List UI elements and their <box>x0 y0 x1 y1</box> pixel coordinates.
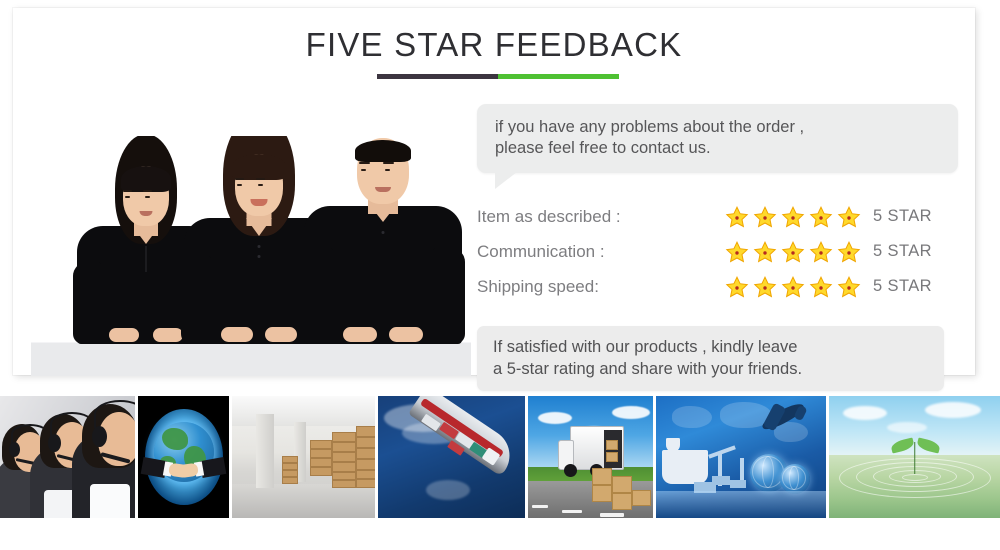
hair-top <box>232 154 286 180</box>
headset-icon <box>94 400 135 428</box>
carton-box <box>282 456 298 470</box>
shirt-button-bottom <box>258 255 261 258</box>
page-root: FIVE STAR FEEDBACK <box>0 0 1000 550</box>
eye-right <box>258 184 263 187</box>
warehouse-column <box>256 414 274 488</box>
cloud <box>612 406 650 419</box>
shirt-button-top <box>382 231 385 234</box>
agent-shirt <box>90 484 130 518</box>
world-map-overlay <box>672 406 712 428</box>
underline-green-segment <box>498 74 619 79</box>
rating-value: 5 STAR <box>873 277 932 296</box>
carton-box <box>310 458 332 476</box>
star-icon <box>809 205 833 229</box>
hand-right <box>389 327 423 342</box>
carton-box <box>356 426 375 448</box>
service-thumbnail-strip <box>0 396 1000 518</box>
thumbnail-green-sprout[interactable] <box>829 396 1000 518</box>
arm-left <box>181 256 213 344</box>
team-photo <box>31 136 471 376</box>
eye-left <box>237 184 242 187</box>
globe-icon <box>780 464 810 494</box>
carton-in-trailer <box>606 440 618 450</box>
cargo-ship <box>662 450 708 484</box>
star-icon <box>837 275 861 299</box>
star-icon <box>753 240 777 264</box>
eye-right <box>385 169 390 172</box>
star-icon <box>809 240 833 264</box>
title-block: FIVE STAR FEEDBACK <box>13 26 975 64</box>
collar-v <box>246 218 272 236</box>
note-line-2: a 5-star rating and share with your frie… <box>493 358 928 380</box>
brow-right <box>256 178 265 180</box>
hair-top <box>121 166 171 192</box>
truck-wheel <box>564 464 577 477</box>
carton-box <box>592 468 612 485</box>
rating-row: Communication : 5 STAR <box>477 234 961 269</box>
brow-left <box>359 162 370 164</box>
arm-right <box>431 248 465 344</box>
carton-box <box>356 448 375 470</box>
star-rating <box>725 205 873 229</box>
placket <box>145 246 147 272</box>
headset-earpiece <box>48 434 61 452</box>
page-title: FIVE STAR FEEDBACK <box>13 26 975 64</box>
star-icon <box>837 240 861 264</box>
carton-box <box>612 493 632 510</box>
cloud <box>925 402 981 418</box>
collar-v <box>134 228 158 244</box>
globe-landmass <box>162 428 188 450</box>
title-underline <box>377 74 619 79</box>
star-rating <box>725 275 873 299</box>
arm-left <box>301 248 335 344</box>
star-rating <box>725 240 873 264</box>
star-icon <box>781 275 805 299</box>
carton-box <box>632 490 651 506</box>
support-message-bubble: if you have any problems about the order… <box>477 104 958 173</box>
underline-dark-segment <box>377 74 498 79</box>
carton-box <box>612 476 632 493</box>
rating-label: Shipping speed: <box>477 277 725 297</box>
rating-label: Communication : <box>477 242 725 262</box>
cloud <box>538 412 572 424</box>
sprout-stem <box>914 442 916 474</box>
thumbnail-delivery-truck[interactable] <box>528 396 653 518</box>
star-icon <box>781 240 805 264</box>
eye-left <box>125 196 130 199</box>
hair-top <box>355 140 411 162</box>
star-icon <box>725 240 749 264</box>
carton-box <box>310 440 332 458</box>
carton-box <box>332 432 356 452</box>
lane-marking <box>532 505 548 508</box>
container <box>730 480 746 488</box>
brow-right <box>143 190 152 192</box>
carton-box <box>332 452 356 472</box>
carton-box <box>356 470 375 488</box>
support-message-line-1: if you have any problems about the order… <box>495 117 942 138</box>
star-icon <box>781 205 805 229</box>
support-message-line-2: please feel free to contact us. <box>495 138 942 159</box>
hand-left <box>221 327 253 342</box>
thumbnail-call-center-agents[interactable] <box>0 396 135 518</box>
carton-box <box>282 470 298 484</box>
cloud <box>887 422 927 433</box>
arm-left <box>73 262 103 344</box>
hand-right <box>265 327 297 342</box>
collar-v <box>369 204 397 222</box>
star-icon <box>725 205 749 229</box>
eye-right <box>145 196 150 199</box>
cloud <box>843 406 887 420</box>
star-icon <box>725 275 749 299</box>
thumbnail-container-ship[interactable] <box>378 396 524 518</box>
carton-box <box>332 472 356 488</box>
feedback-card: FIVE STAR FEEDBACK <box>13 8 975 375</box>
rating-row: Shipping speed: 5 STAR <box>477 269 961 304</box>
headset-earpiece <box>9 442 20 457</box>
note-line-1: If satisfied with our products , kindly … <box>493 336 928 358</box>
water-reflection <box>656 491 826 518</box>
shirt-button-top <box>258 245 261 248</box>
bubble-tail <box>495 172 517 189</box>
hand-left <box>343 327 377 342</box>
lane-marking <box>562 510 582 514</box>
brow-right <box>383 162 394 164</box>
mouth <box>375 187 391 192</box>
rating-label: Item as described : <box>477 207 725 227</box>
warehouse-floor <box>232 484 375 518</box>
rating-value: 5 STAR <box>873 207 932 226</box>
thumbnail-global-handshake[interactable] <box>138 396 229 518</box>
carton-box <box>592 485 612 502</box>
thumbnail-global-logistics[interactable] <box>656 396 826 518</box>
brow-left <box>123 190 132 192</box>
feedback-details: if you have any problems about the order… <box>477 104 961 391</box>
star-icon <box>753 275 777 299</box>
rating-request-note: If satisfied with our products , kindly … <box>477 326 944 391</box>
eye-left <box>361 169 366 172</box>
brow-left <box>235 178 244 180</box>
person-right <box>299 136 467 344</box>
star-icon <box>809 275 833 299</box>
thumbnail-warehouse-stock[interactable] <box>232 396 375 518</box>
lane-marking <box>600 513 624 517</box>
carton-in-trailer <box>606 452 618 462</box>
rating-value: 5 STAR <box>873 242 932 261</box>
rating-row: Item as described : 5 STAR <box>477 199 961 234</box>
headset-earpiece <box>92 426 107 447</box>
hand-left <box>109 328 139 342</box>
star-icon <box>837 205 861 229</box>
star-icon <box>753 205 777 229</box>
ratings-list: Item as described : 5 STAR Communication… <box>477 199 961 304</box>
